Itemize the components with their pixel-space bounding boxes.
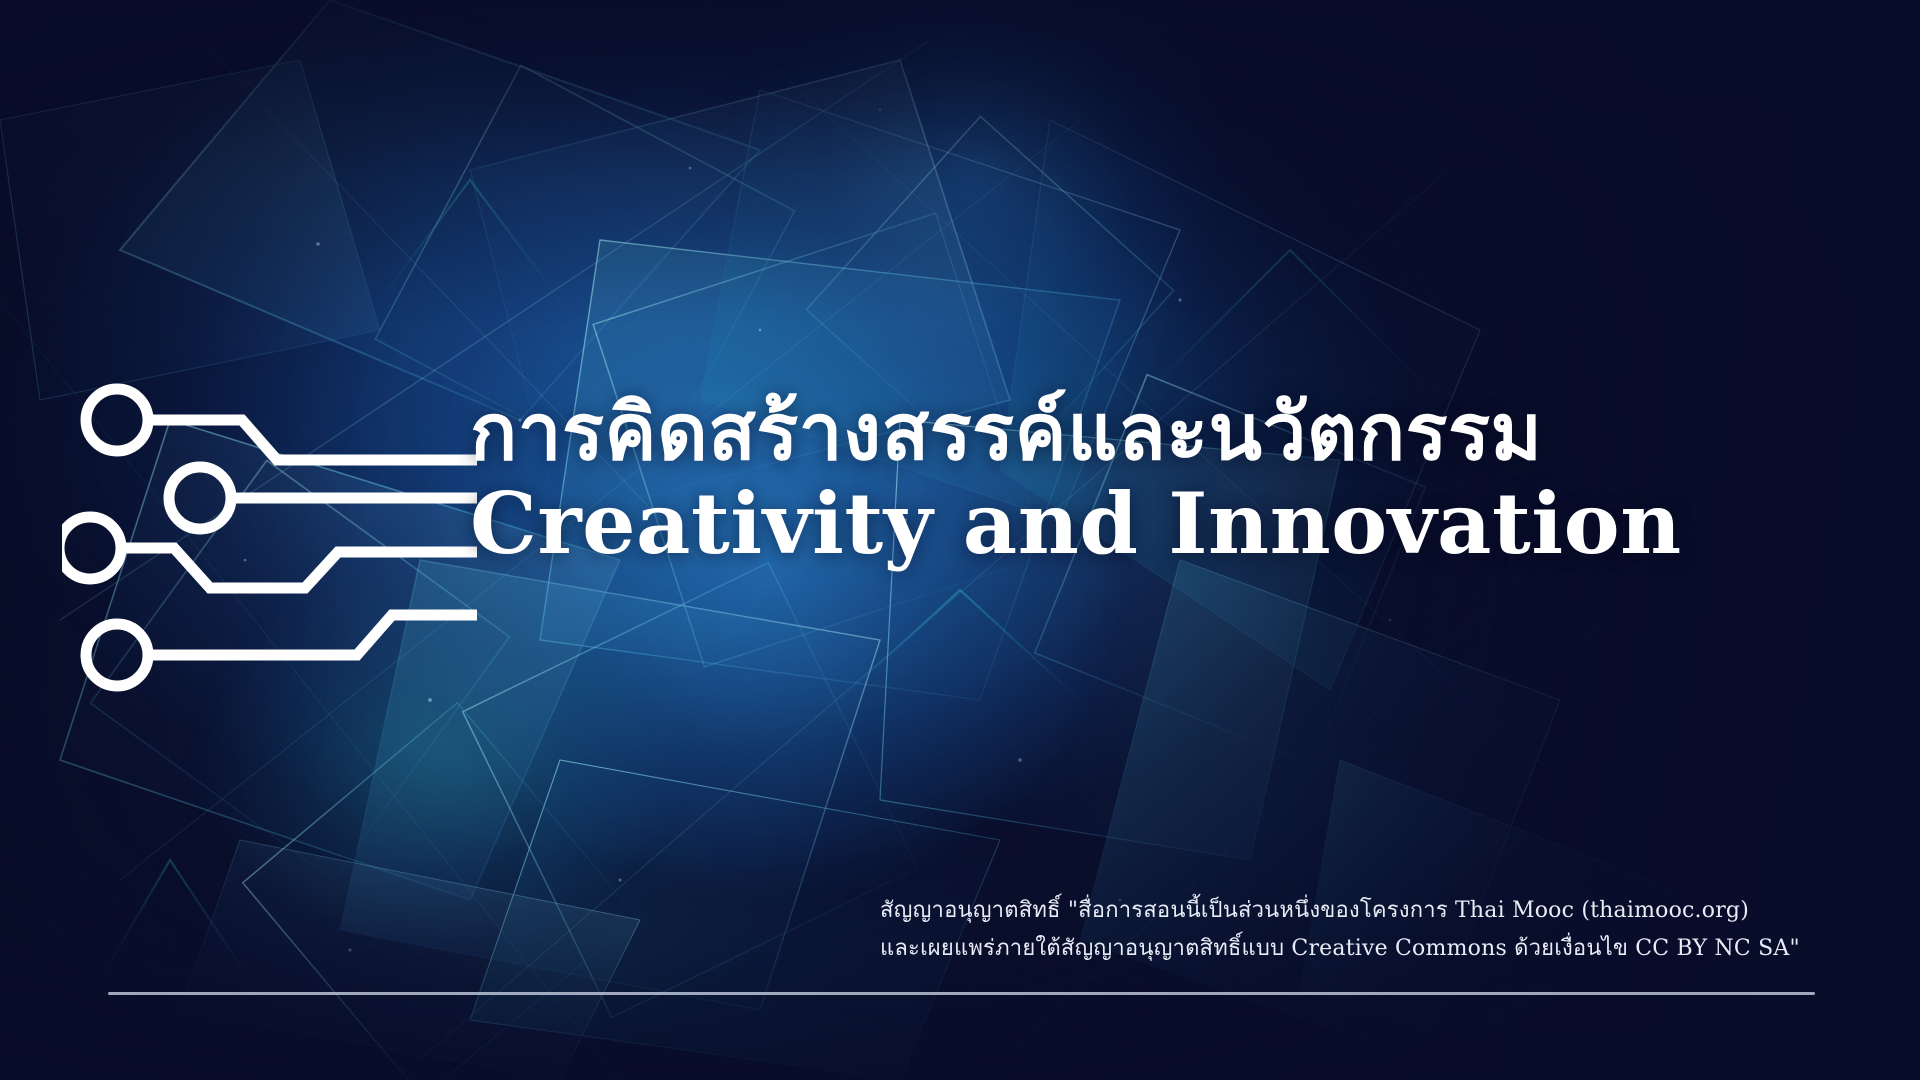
license-line-2: และเผยแพร่ภายใต้สัญญาอนุญาตสิทธิ์แบบ Cre… — [880, 930, 1810, 968]
footer-divider — [108, 992, 1815, 995]
license-notice: สัญญาอนุญาตสิทธิ์ "สื่อการสอนนี้เป็นส่วน… — [880, 892, 1810, 968]
license-line-1: สัญญาอนุญาตสิทธิ์ "สื่อการสอนนี้เป็นส่วน… — [880, 892, 1810, 930]
title-slide: การคิดสร้างสรรค์และนวัตกรรม Creativity a… — [0, 0, 1920, 1080]
background-top-fade — [0, 0, 1920, 324]
circuit-node-icon — [62, 370, 482, 710]
title-block: การคิดสร้างสรรค์และนวัตกรรม Creativity a… — [470, 392, 1740, 566]
page-title-thai: การคิดสร้างสรรค์และนวัตกรรม — [470, 392, 1740, 475]
page-title-english: Creativity and Innovation — [470, 481, 1740, 567]
